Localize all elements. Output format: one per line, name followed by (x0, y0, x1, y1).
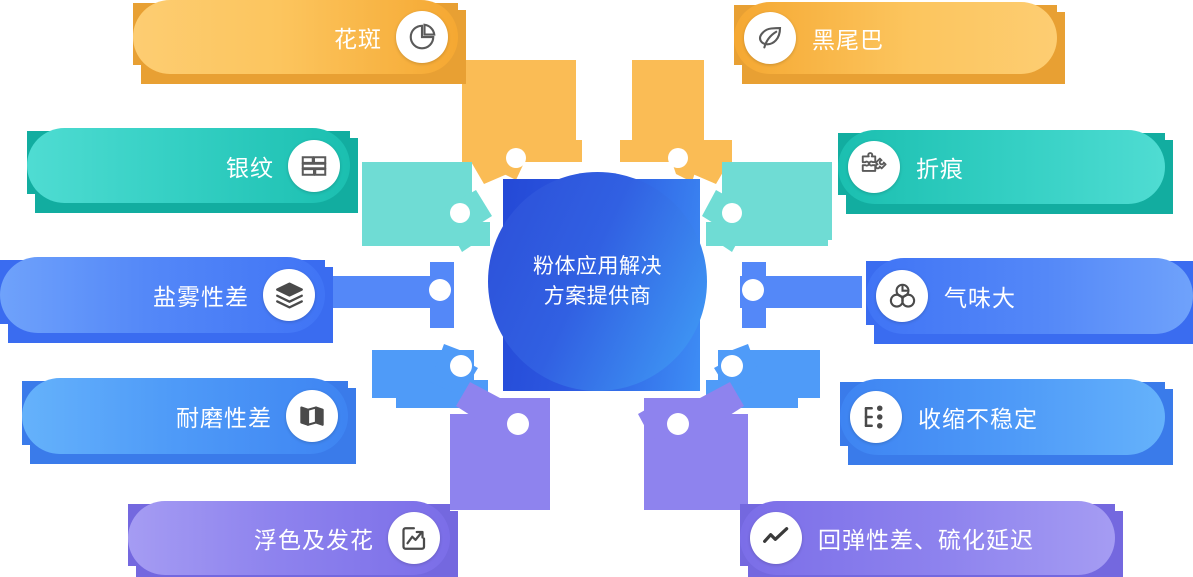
node-zhe-hen[interactable]: 折痕 (838, 130, 1165, 204)
node-fu-se-ji-fa-hua[interactable]: 浮色及发花 (128, 501, 450, 575)
node-shou-suo-bu-wen-ding[interactable]: 收缩不稳定 (840, 379, 1165, 455)
puzzle-piece-icon (848, 141, 900, 193)
node-body[interactable]: 收缩不稳定 (840, 379, 1165, 455)
node-qi-wei-da[interactable]: 气味大 (866, 258, 1193, 334)
node-body[interactable]: 折痕 (838, 130, 1165, 204)
node-label: 折痕 (916, 150, 964, 184)
sitemap-icon (850, 391, 902, 443)
node-label: 回弹性差、硫化延迟 (818, 521, 1034, 555)
connector-yin-wen (362, 162, 492, 252)
layers-icon (263, 269, 315, 321)
node-nai-mo-xing-cha[interactable]: 耐磨性差 (22, 378, 348, 454)
node-hui-tan-xing-cha[interactable]: 回弹性差、硫化延迟 (740, 501, 1115, 575)
node-body[interactable]: 气味大 (866, 258, 1193, 334)
connector-qi-wei-da (740, 262, 862, 328)
connector-nai-mo-xing-cha (372, 344, 488, 408)
node-hua-ban[interactable]: 花斑 (133, 0, 458, 74)
connector-hei-wei-ba (620, 60, 732, 184)
node-body[interactable]: 盐雾性差 (0, 257, 325, 333)
leaf-icon (744, 12, 796, 64)
node-body[interactable]: 黑尾巴 (734, 2, 1057, 74)
infographic-diagram: 粉体应用解决 方案提供商 花斑 黑尾巴 (0, 0, 1193, 577)
node-yin-wen[interactable]: 银纹 (27, 128, 350, 203)
hub-title: 粉体应用解决 方案提供商 (488, 172, 707, 391)
connector-shou-suo-bu-wen-ding (706, 344, 820, 408)
brick-wall-icon (288, 140, 340, 192)
line-chart-icon (750, 512, 802, 564)
node-label: 气味大 (944, 279, 1016, 313)
trending-up-box-icon (388, 512, 440, 564)
node-body[interactable]: 银纹 (27, 128, 350, 203)
node-body[interactable]: 回弹性差、硫化延迟 (740, 501, 1115, 575)
connector-zhe-hen (702, 162, 832, 252)
node-label: 银纹 (226, 149, 274, 183)
connector-hui-tan-xing-cha (638, 382, 748, 510)
node-label: 浮色及发花 (254, 521, 374, 555)
node-label: 收缩不稳定 (918, 400, 1038, 434)
node-label: 黑尾巴 (812, 21, 884, 55)
node-body[interactable]: 耐磨性差 (22, 378, 348, 454)
node-body[interactable]: 花斑 (133, 0, 458, 74)
node-label: 耐磨性差 (176, 399, 272, 433)
pie-chart-icon (396, 11, 448, 63)
node-body[interactable]: 浮色及发花 (128, 501, 450, 575)
connector-yan-wu-xing-cha (332, 262, 454, 328)
open-book-icon (286, 390, 338, 442)
node-label: 花斑 (334, 20, 382, 54)
connector-hua-ban (462, 60, 582, 184)
node-yan-wu-xing-cha[interactable]: 盐雾性差 (0, 257, 325, 333)
node-label: 盐雾性差 (153, 278, 249, 312)
node-hei-wei-ba[interactable]: 黑尾巴 (734, 2, 1057, 74)
connector-fu-se-ji-fa-hua (450, 382, 550, 510)
recycle-icon (876, 270, 928, 322)
